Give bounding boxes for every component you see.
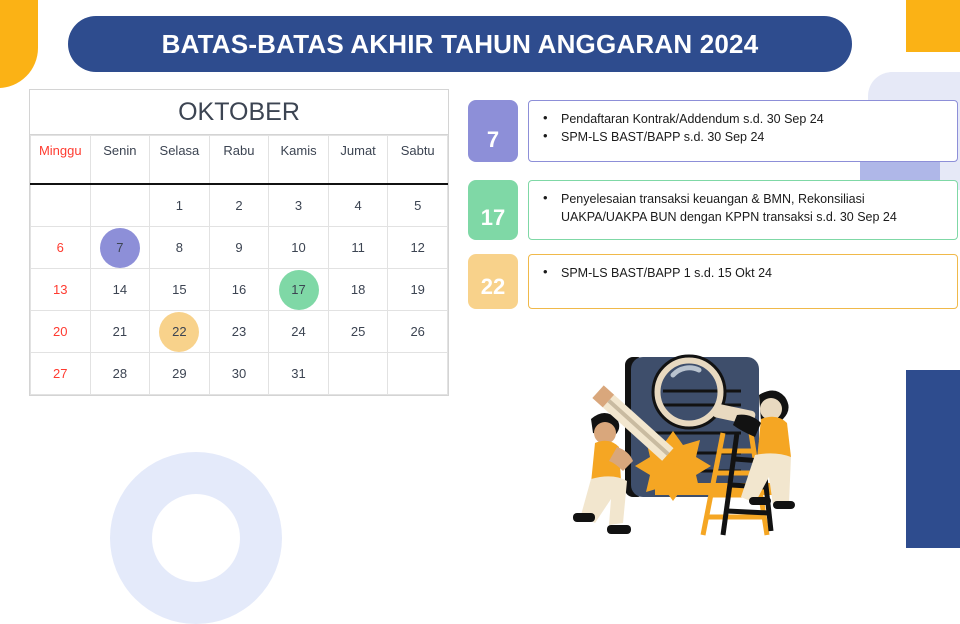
callout-badge-day: 22 [468, 254, 518, 309]
calendar-day-28[interactable]: 28 [90, 353, 150, 395]
calendar-day-number: 2 [235, 198, 242, 213]
calendar-day-11[interactable]: 11 [328, 227, 388, 269]
calendar-day-number: 17 [291, 282, 305, 297]
calendar-day-16[interactable]: 16 [209, 269, 269, 311]
calendar-week-row: 12345 [31, 184, 448, 227]
calendar-weekday-jumat: Jumat [328, 136, 388, 185]
calendar-weekday-rabu: Rabu [209, 136, 269, 185]
callout-deadline-17: 17 Penyelesaian transaksi keuangan & BMN… [468, 180, 958, 240]
calendar-day-number: 20 [53, 324, 67, 339]
calendar-day-number: 6 [57, 240, 64, 255]
calendar-day-number: 31 [291, 366, 305, 381]
calendar-day-27[interactable]: 27 [31, 353, 91, 395]
calendar-day-number: 15 [172, 282, 186, 297]
calendar-weekday-senin: Senin [90, 136, 150, 185]
calendar-day-number: 25 [351, 324, 365, 339]
calendar-day-29[interactable]: 29 [150, 353, 210, 395]
page-title-banner: BATAS-BATAS AKHIR TAHUN ANGGARAN 2024 [68, 16, 852, 72]
calendar-day-24[interactable]: 24 [269, 311, 329, 353]
calendar-week-row: 13141516171819 [31, 269, 448, 311]
calendar-day-26[interactable]: 26 [388, 311, 448, 353]
calendar-day-number: 9 [235, 240, 242, 255]
calendar-day-number: 10 [291, 240, 305, 255]
calendar-week-row: 6789101112 [31, 227, 448, 269]
calendar-day-19[interactable]: 19 [388, 269, 448, 311]
callout-item: SPM-LS BAST/BAPP 1 s.d. 15 Okt 24 [535, 264, 945, 282]
calendar-day-empty [90, 184, 150, 227]
calendar-day-3[interactable]: 3 [269, 184, 329, 227]
calendar-day-7[interactable]: 7 [90, 227, 150, 269]
page-title: BATAS-BATAS AKHIR TAHUN ANGGARAN 2024 [162, 29, 759, 60]
calendar-day-9[interactable]: 9 [209, 227, 269, 269]
calendar-day-13[interactable]: 13 [31, 269, 91, 311]
calendar-day-number: 1 [176, 198, 183, 213]
callout-note: Pendaftaran Kontrak/Addendum s.d. 30 Sep… [528, 100, 958, 162]
calendar-day-number: 4 [354, 198, 361, 213]
decor-arc-bottom-left [110, 452, 282, 624]
calendar-day-22[interactable]: 22 [150, 311, 210, 353]
calendar-day-14[interactable]: 14 [90, 269, 150, 311]
calendar-day-4[interactable]: 4 [328, 184, 388, 227]
decor-blue-bottom-right [906, 370, 960, 548]
calendar-day-17[interactable]: 17 [269, 269, 329, 311]
calendar-day-18[interactable]: 18 [328, 269, 388, 311]
calendar-day-8[interactable]: 8 [150, 227, 210, 269]
calendar-day-empty [328, 353, 388, 395]
calendar-day-number: 23 [232, 324, 246, 339]
calendar-card: OKTOBER MingguSeninSelasaRabuKamisJumatS… [29, 89, 449, 396]
calendar-day-number: 16 [232, 282, 246, 297]
callout-deadline-7: 7 Pendaftaran Kontrak/Addendum s.d. 30 S… [468, 100, 958, 162]
calendar-day-number: 30 [232, 366, 246, 381]
callout-note: SPM-LS BAST/BAPP 1 s.d. 15 Okt 24 [528, 254, 958, 309]
calendar-day-number: 14 [113, 282, 127, 297]
calendar-day-12[interactable]: 12 [388, 227, 448, 269]
decor-orange-top-left [0, 0, 38, 88]
calendar-week-row: 20212223242526 [31, 311, 448, 353]
calendar-day-empty [31, 184, 91, 227]
calendar-day-20[interactable]: 20 [31, 311, 91, 353]
calendar-day-1[interactable]: 1 [150, 184, 210, 227]
calendar-month-label: OKTOBER [30, 90, 448, 135]
decor-orange-top-right [906, 0, 960, 52]
calendar-day-2[interactable]: 2 [209, 184, 269, 227]
calendar-day-number: 24 [291, 324, 305, 339]
calendar-day-number: 11 [351, 240, 365, 255]
calendar-day-empty [388, 353, 448, 395]
calendar-weekday-kamis: Kamis [269, 136, 329, 185]
calendar-day-25[interactable]: 25 [328, 311, 388, 353]
calendar-day-number: 19 [410, 282, 424, 297]
calendar-day-number: 21 [113, 324, 127, 339]
calendar-day-31[interactable]: 31 [269, 353, 329, 395]
calendar-day-number: 12 [410, 240, 424, 255]
decor-arc-bottom-left-hole [152, 494, 240, 582]
calendar-day-number: 5 [414, 198, 421, 213]
calendar-day-number: 29 [172, 366, 186, 381]
calendar-day-number: 27 [53, 366, 67, 381]
calendar-day-number: 22 [172, 324, 186, 339]
calendar-weekday-sabtu: Sabtu [388, 136, 448, 185]
callout-item: Penyelesaian transaksi keuangan & BMN, R… [535, 190, 945, 226]
calendar-day-23[interactable]: 23 [209, 311, 269, 353]
calendar-day-number: 13 [53, 282, 67, 297]
calendar-grid: MingguSeninSelasaRabuKamisJumatSabtu 123… [30, 135, 448, 395]
calendar-day-number: 7 [116, 240, 123, 255]
document-review-illustration [555, 335, 855, 540]
calendar-day-15[interactable]: 15 [150, 269, 210, 311]
callout-note: Penyelesaian transaksi keuangan & BMN, R… [528, 180, 958, 240]
calendar-day-30[interactable]: 30 [209, 353, 269, 395]
calendar-day-number: 28 [113, 366, 127, 381]
calendar-weekday-row: MingguSeninSelasaRabuKamisJumatSabtu [31, 136, 448, 185]
calendar-day-number: 18 [351, 282, 365, 297]
callout-item: SPM-LS BAST/BAPP s.d. 30 Sep 24 [535, 128, 945, 146]
calendar-weekday-minggu: Minggu [31, 136, 91, 185]
calendar-day-6[interactable]: 6 [31, 227, 91, 269]
callout-deadline-22: 22 SPM-LS BAST/BAPP 1 s.d. 15 Okt 24 [468, 254, 958, 309]
callout-item: Pendaftaran Kontrak/Addendum s.d. 30 Sep… [535, 110, 945, 128]
calendar-day-number: 8 [176, 240, 183, 255]
calendar-day-10[interactable]: 10 [269, 227, 329, 269]
calendar-day-number: 3 [295, 198, 302, 213]
callout-badge-day: 17 [468, 180, 518, 240]
calendar-day-5[interactable]: 5 [388, 184, 448, 227]
calendar-day-number: 26 [410, 324, 424, 339]
calendar-week-row: 2728293031 [31, 353, 448, 395]
calendar-day-21[interactable]: 21 [90, 311, 150, 353]
calendar-weekday-selasa: Selasa [150, 136, 210, 185]
callout-badge-day: 7 [468, 100, 518, 162]
